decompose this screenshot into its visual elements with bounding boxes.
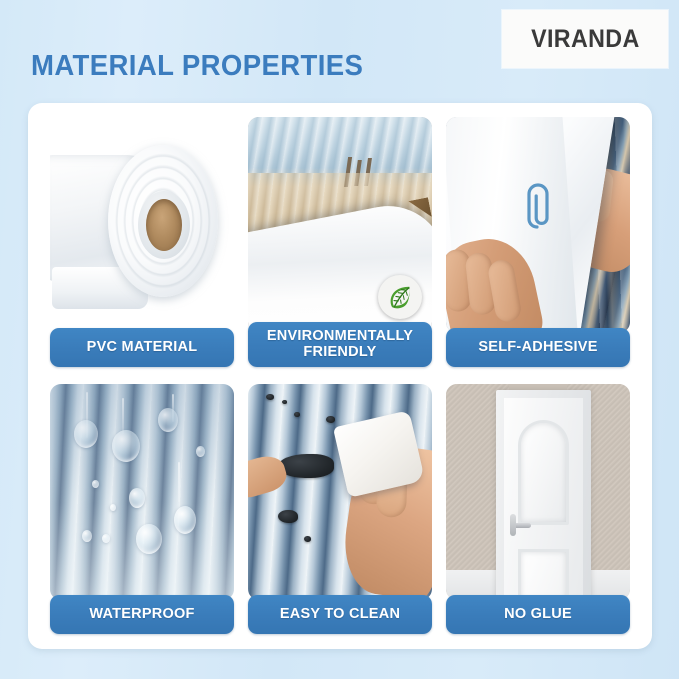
door-upper-panel xyxy=(518,420,570,525)
roll-core-inner-shape xyxy=(146,199,182,251)
water-droplet xyxy=(129,488,145,508)
feature-card-pvc-material: PVC MATERIAL xyxy=(50,117,234,367)
feature-label-pvc-material: PVC MATERIAL xyxy=(50,328,234,367)
feature-card-easy-to-clean: EASY TO CLEAN xyxy=(248,384,432,634)
features-grid: PVC MATERIAL xyxy=(50,117,630,637)
feature-card-environmentally-friendly: ENVIRONMENTALLYFRIENDLY xyxy=(248,117,432,367)
water-streak xyxy=(172,394,174,422)
self-adhesive-photo xyxy=(446,117,630,333)
water-droplet xyxy=(92,480,99,488)
door-leaf-shape xyxy=(504,398,584,600)
feature-label-line2: FRIENDLY xyxy=(303,344,376,360)
water-droplet xyxy=(174,506,196,534)
feature-label-easy-to-clean: EASY TO CLEAN xyxy=(248,595,432,634)
water-droplet xyxy=(196,446,205,457)
door-handle-icon xyxy=(513,523,531,528)
door-lower-panel xyxy=(518,549,570,600)
leaf-icon xyxy=(378,275,422,319)
feature-label-self-adhesive: SELF-ADHESIVE xyxy=(446,328,630,367)
feature-label-text: PVC MATERIAL xyxy=(87,340,198,356)
water-droplet xyxy=(110,504,116,511)
water-droplet xyxy=(102,534,110,543)
feature-card-self-adhesive: SELF-ADHESIVE xyxy=(446,117,630,367)
feature-label-no-glue: NO GLUE xyxy=(446,595,630,634)
feature-label-text: WATERPROOF xyxy=(89,607,194,623)
features-panel: PVC MATERIAL xyxy=(28,103,652,649)
door-scene-illustration xyxy=(446,384,630,600)
water-streak xyxy=(178,462,180,502)
water-streak xyxy=(86,392,88,438)
paperclip-icon xyxy=(524,183,550,238)
feature-label-waterproof: WATERPROOF xyxy=(50,595,234,634)
stain-mark xyxy=(294,412,300,417)
eco-peel-photo xyxy=(248,117,432,333)
stain-mark xyxy=(282,400,287,404)
feature-label-text: ENVIRONMENTALLYFRIENDLY xyxy=(267,329,413,360)
water-droplet xyxy=(74,420,98,448)
water-streak xyxy=(122,398,124,434)
water-droplet xyxy=(158,408,178,432)
stain-mark xyxy=(278,510,298,523)
no-glue-photo xyxy=(446,384,630,600)
feature-label-line1: ENVIRONMENTALLY xyxy=(267,328,413,344)
door-frame-shape xyxy=(496,390,592,600)
water-droplet xyxy=(136,524,162,554)
feature-label-text: SELF-ADHESIVE xyxy=(478,340,597,356)
waterproof-photo xyxy=(50,384,234,600)
water-droplet xyxy=(112,430,140,462)
stain-mark xyxy=(326,416,335,423)
brand-logo-text: VIRANDA xyxy=(531,25,640,54)
adhesive-scene-illustration xyxy=(446,117,630,333)
feature-label-text: EASY TO CLEAN xyxy=(280,607,400,623)
stain-mark xyxy=(266,394,274,400)
stain-mark xyxy=(304,536,311,542)
pvc-roll-illustration xyxy=(50,117,234,333)
page-title: MATERIAL PROPERTIES xyxy=(31,50,363,83)
feature-label-environmentally-friendly: ENVIRONMENTALLYFRIENDLY xyxy=(248,322,432,367)
easy-to-clean-photo xyxy=(248,384,432,600)
water-droplets-illustration xyxy=(50,384,234,600)
water-droplet xyxy=(82,530,92,542)
eco-scene-illustration xyxy=(248,117,432,333)
feature-card-waterproof: WATERPROOF xyxy=(50,384,234,634)
brand-logo-box: VIRANDA xyxy=(502,10,668,68)
pvc-roll-photo xyxy=(50,117,234,333)
feature-card-no-glue: NO GLUE xyxy=(446,384,630,634)
feature-label-text: NO GLUE xyxy=(504,607,572,623)
cleaning-scene-illustration xyxy=(248,384,432,600)
pier-posts-shape xyxy=(344,157,374,191)
